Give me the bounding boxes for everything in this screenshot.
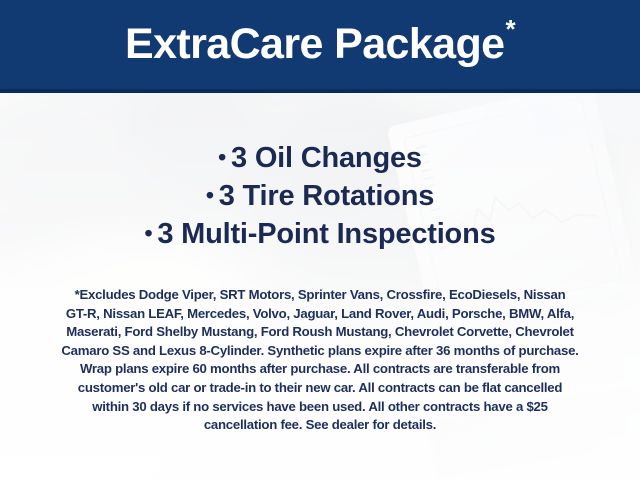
bullet-icon: • [144,220,152,246]
list-item: •3 Multi-Point Inspections [0,215,640,253]
disclaimer-line: Wrap plans expire 60 months after purcha… [22,360,618,379]
disclaimer-line: *Excludes Dodge Viper, SRT Motors, Sprin… [22,286,618,305]
list-item-label: 3 Oil Changes [231,142,422,174]
bullet-icon: • [206,182,214,208]
bullet-icon: • [218,144,226,170]
list-item-label: 3 Tire Rotations [219,180,434,212]
disclaimer-line: cancellation fee. See dealer for details… [22,416,618,435]
disclaimer-text: *Excludes Dodge Viper, SRT Motors, Sprin… [22,286,618,435]
header-banner: ExtraCare Package* [0,0,640,93]
list-item-label: 3 Multi-Point Inspections [157,218,495,250]
benefits-list: •3 Oil Changes •3 Tire Rotations •3 Mult… [0,139,640,253]
disclaimer-line: Camaro SS and Lexus 8-Cylinder. Syntheti… [22,342,618,361]
list-item: •3 Oil Changes [0,139,640,177]
title-asterisk: * [505,16,515,42]
disclaimer-line: Maserati, Ford Shelby Mustang, Ford Rous… [22,323,618,342]
extracare-package-poster: ExtraCare Package* •3 Oil Changes •3 Tir… [0,0,640,480]
list-item: •3 Tire Rotations [0,177,640,215]
disclaimer-line: within 30 days if no services have been … [22,398,618,417]
disclaimer-line: GT-R, Nissan LEAF, Mercedes, Volvo, Jagu… [22,305,618,324]
page-title-text: ExtraCare Package [125,20,504,69]
page-title: ExtraCare Package* [0,0,640,89]
disclaimer-line: customer's old car or trade-in to their … [22,379,618,398]
banner-bottom-edge [0,89,640,93]
